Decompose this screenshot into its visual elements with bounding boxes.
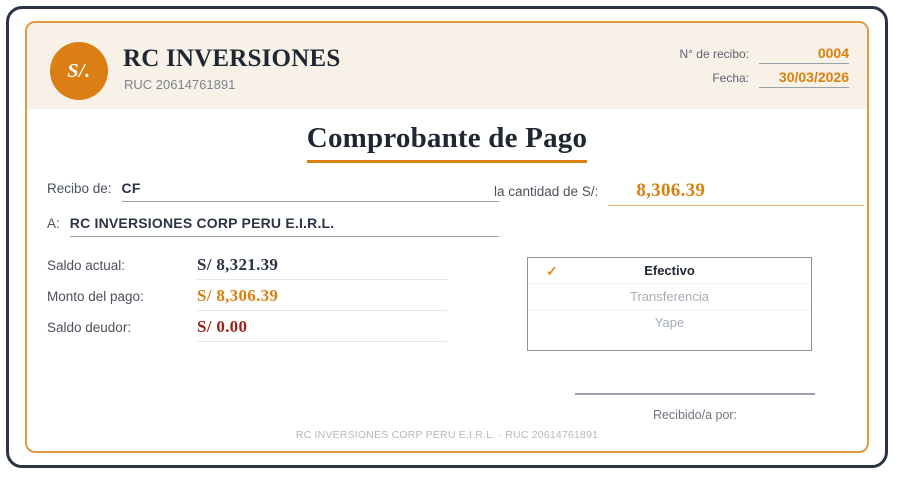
signature-area: Recibido/a por:: [575, 393, 815, 422]
recibo-de-value: CF: [122, 180, 141, 196]
cantidad-label: la cantidad de S/:: [494, 184, 598, 199]
payment-option-yape[interactable]: Yape: [528, 310, 811, 335]
cantidad-field[interactable]: 8,306.39: [608, 180, 864, 206]
signature-label: Recibido/a por:: [575, 408, 815, 422]
company-ruc: RUC 20614761891: [124, 77, 235, 92]
receipt-date-value: 30/03/2026: [759, 69, 849, 88]
payment-option-transferencia[interactable]: Transferencia: [528, 284, 811, 310]
destinatario-field[interactable]: RC INVERSIONES CORP PERU E.I.R.L.: [70, 215, 499, 237]
payment-method-box: ✓ Efectivo Transferencia Yape: [527, 257, 812, 351]
balance-row: Saldo actual: S/ 8,321.39: [47, 255, 447, 286]
payment-option-label: Efectivo: [644, 263, 695, 278]
balance-row: Saldo deudor: S/ 0.00: [47, 317, 447, 348]
payment-option-efectivo[interactable]: ✓ Efectivo: [528, 258, 811, 284]
receipt-number-value: 0004: [759, 45, 849, 64]
check-icon: ✓: [546, 264, 558, 278]
monto-pago-value: S/ 8,306.39: [197, 286, 447, 311]
receipt-footer: RC INVERSIONES CORP PERU E.I.R.L. · RUC …: [27, 425, 867, 443]
field-cantidad: la cantidad de S/: 8,306.39: [494, 180, 864, 206]
receipt-date-label: Fecha:: [712, 71, 749, 85]
field-recibo-de: Recibo de: CF: [47, 180, 499, 202]
monto-pago-label: Monto del pago:: [47, 289, 197, 304]
signature-line[interactable]: [575, 393, 815, 395]
destinatario-label: A:: [47, 216, 60, 231]
receipt-outer-frame: S/. RC INVERSIONES RUC 20614761891 N° de…: [6, 6, 888, 468]
recibo-de-label: Recibo de:: [47, 181, 112, 196]
saldo-deudor-label: Saldo deudor:: [47, 320, 197, 335]
receipt-meta: N° de recibo: 0004 Fecha: 30/03/2026: [680, 45, 850, 93]
company-logo-icon: S/.: [50, 42, 108, 100]
field-destinatario: A: RC INVERSIONES CORP PERU E.I.R.L.: [47, 215, 499, 237]
receipt-number-label: N° de recibo:: [680, 47, 750, 61]
destinatario-value: RC INVERSIONES CORP PERU E.I.R.L.: [70, 215, 335, 231]
receipt-date-row: Fecha: 30/03/2026: [680, 69, 850, 88]
balance-row: Monto del pago: S/ 8,306.39: [47, 286, 447, 317]
saldo-actual-label: Saldo actual:: [47, 258, 197, 273]
receipt-card: S/. RC INVERSIONES RUC 20614761891 N° de…: [25, 21, 869, 453]
receipt-header: S/. RC INVERSIONES RUC 20614761891 N° de…: [27, 23, 867, 109]
company-name: RC INVERSIONES: [123, 45, 340, 73]
saldo-actual-value: S/ 8,321.39: [197, 255, 447, 280]
saldo-deudor-value: S/ 0.00: [197, 317, 447, 342]
payment-option-label: Transferencia: [630, 289, 709, 304]
page-title: Comprobante de Pago: [307, 122, 587, 163]
balance-list: Saldo actual: S/ 8,321.39 Monto del pago…: [47, 255, 447, 348]
recibo-de-field[interactable]: CF: [122, 180, 499, 202]
cantidad-value: 8,306.39: [608, 180, 705, 201]
footer-text: RC INVERSIONES CORP PERU E.I.R.L. · RUC …: [296, 429, 598, 441]
receipt-number-row: N° de recibo: 0004: [680, 45, 850, 64]
payment-option-label: Yape: [655, 315, 684, 330]
document-title-wrap: Comprobante de Pago: [27, 122, 867, 163]
